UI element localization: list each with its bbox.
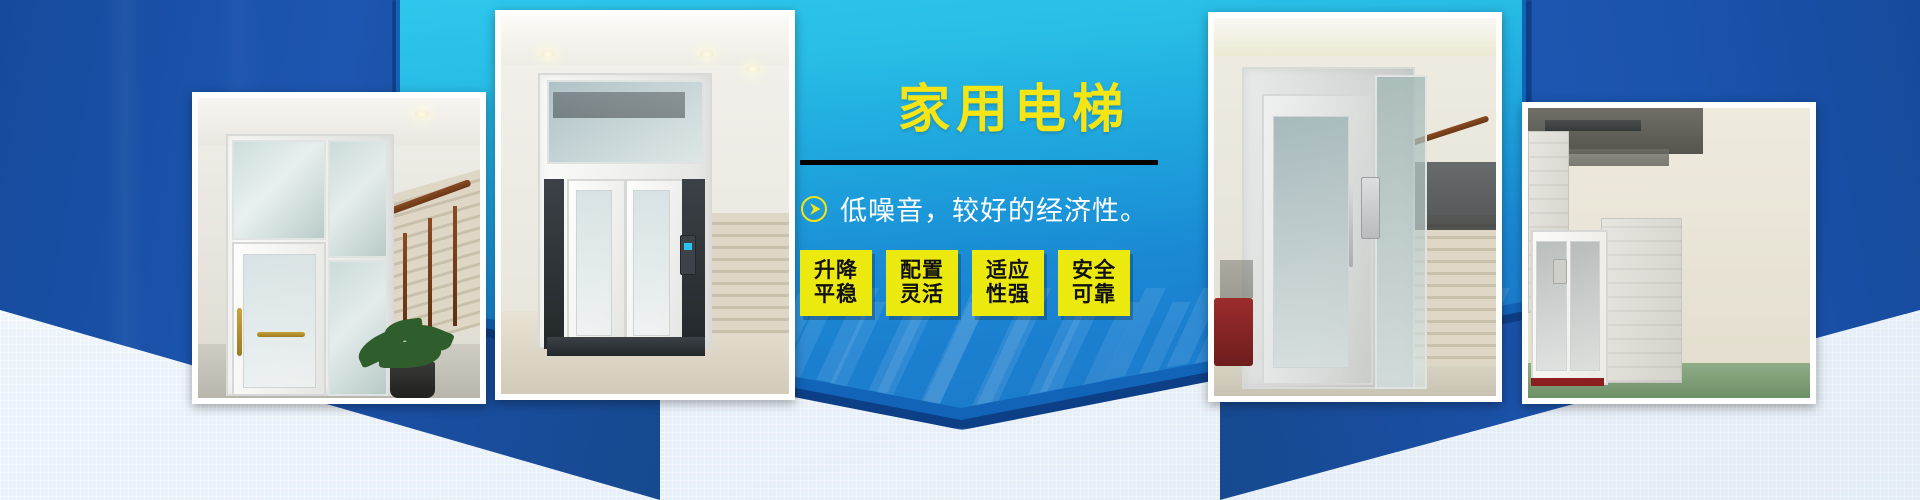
badge-line-1: 适应	[972, 259, 1044, 283]
badge-line-1: 升降	[800, 259, 872, 283]
title-divider	[800, 160, 1158, 165]
badge-line-2: 性强	[972, 283, 1044, 307]
subtitle-row: 低噪音，较好的经济性。	[800, 189, 1220, 228]
badge-line-2: 可靠	[1058, 283, 1130, 307]
badge-strong-adaptability[interactable]: 适应 性强	[972, 250, 1044, 316]
subtitle-text: 低噪音，较好的经济性。	[840, 189, 1148, 228]
page-title: 家用电梯	[800, 84, 1220, 136]
promo-text-block: 家用电梯 低噪音，较好的经济性。 升降 平稳 配置 灵活 适应 性强	[800, 84, 1220, 316]
home-elevator-banner: 家用电梯 低噪音，较好的经济性。 升降 平稳 配置 灵活 适应 性强	[0, 0, 1920, 500]
badge-line-2: 灵活	[886, 283, 958, 307]
circle-play-arrow-icon	[800, 195, 828, 223]
badge-safe-reliable[interactable]: 安全 可靠	[1058, 250, 1130, 316]
badge-flexible-configuration[interactable]: 配置 灵活	[886, 250, 958, 316]
photo-home-elevator-glass-shaft-stairwell	[192, 92, 486, 404]
badge-line-1: 安全	[1058, 259, 1130, 283]
badge-line-1: 配置	[886, 259, 958, 283]
photo-4-image	[1528, 108, 1810, 398]
badge-line-2: 平稳	[800, 283, 872, 307]
feature-badge-list: 升降 平稳 配置 灵活 适应 性强 安全 可靠	[800, 250, 1220, 316]
badge-lifting-stability[interactable]: 升降 平稳	[800, 250, 872, 316]
photo-home-elevator-white-double-door-lobby	[495, 10, 795, 400]
photo-home-elevator-installation-unfinished-room	[1522, 102, 1816, 404]
photo-1-image	[198, 98, 480, 398]
photo-home-elevator-stainless-cabin-staircase	[1208, 12, 1502, 402]
photo-2-image	[501, 16, 789, 394]
photo-3-image	[1214, 18, 1496, 396]
